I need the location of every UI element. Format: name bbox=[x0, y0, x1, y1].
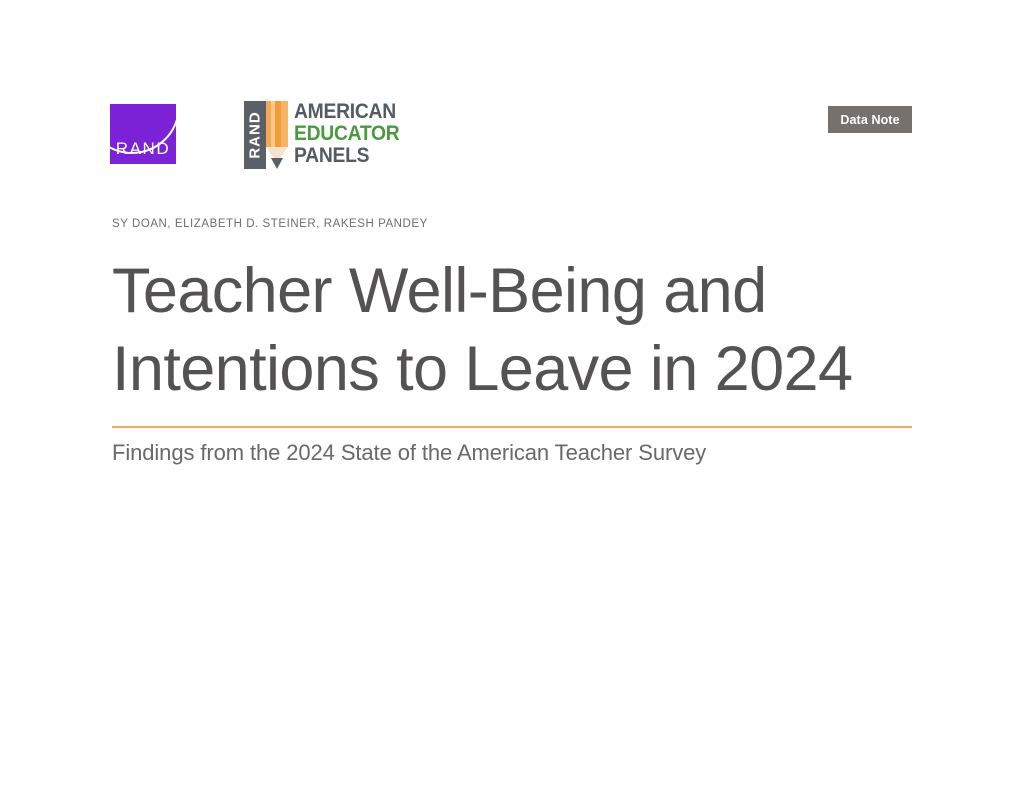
rand-logo[interactable]: RAND bbox=[110, 104, 176, 164]
pencil-icon bbox=[266, 101, 288, 169]
aep-wordmark: AMERICAN EDUCATOR PANELS bbox=[294, 101, 426, 169]
document-page: RAND RAND AMERICAN EDUCATOR PANELS Data … bbox=[0, 0, 1024, 791]
data-note-badge: Data Note bbox=[828, 106, 912, 133]
pencil-tip bbox=[271, 158, 283, 169]
title-divider bbox=[112, 426, 912, 428]
american-educator-panels-logo[interactable]: RAND AMERICAN EDUCATOR PANELS bbox=[244, 101, 426, 169]
aep-line-panels: PANELS bbox=[294, 145, 415, 167]
aep-line-american: AMERICAN bbox=[294, 101, 415, 123]
header-band: RAND RAND AMERICAN EDUCATOR PANELS Data … bbox=[0, 0, 1024, 200]
title-block: SY DOAN, ELIZABETH D. STEINER, RAKESH PA… bbox=[112, 218, 912, 408]
aep-rand-tab: RAND bbox=[244, 101, 266, 169]
page-subtitle: Findings from the 2024 State of the Amer… bbox=[112, 440, 706, 466]
rand-wordmark: RAND bbox=[110, 140, 176, 157]
page-title-line-2: Intentions to Leave in 2024 bbox=[112, 330, 912, 408]
pencil-body bbox=[266, 101, 288, 147]
page-title-line-1: Teacher Well-Being and bbox=[112, 252, 912, 330]
authors-line: SY DOAN, ELIZABETH D. STEINER, RAKESH PA… bbox=[112, 218, 912, 230]
aep-rand-tab-label: RAND bbox=[248, 111, 263, 158]
aep-line-educator: EDUCATOR bbox=[294, 123, 415, 145]
